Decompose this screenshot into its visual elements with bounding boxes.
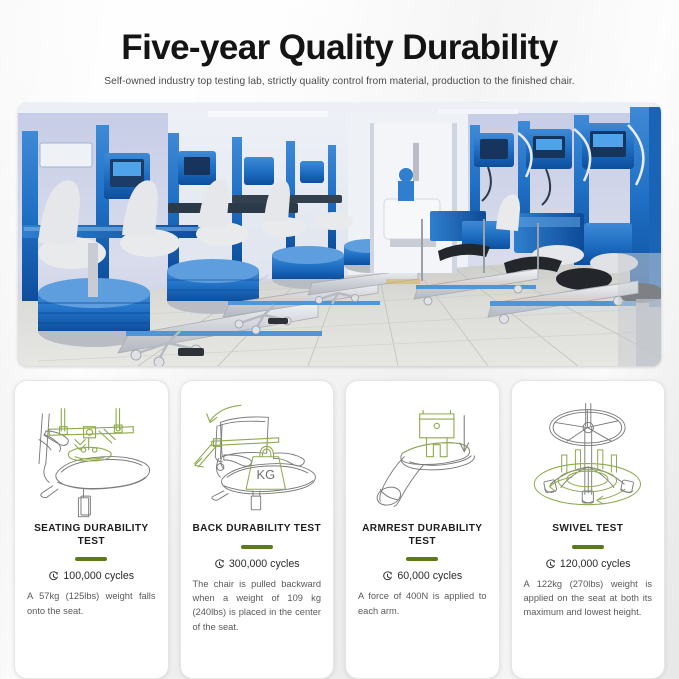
card-title: SEATING DURABILITY TEST [27,523,156,548]
card-cycles: 100,000 cycles [27,570,156,583]
armrest-press-test-icon [358,391,487,519]
card-description: A 122kg (270lbs) weight is applied on th… [524,577,653,620]
clock-icon [382,571,393,582]
card-divider [241,545,273,549]
card-seating-durability-test[interactable]: SEATING DURABILITY TEST 100,000 cycles A… [14,380,169,679]
card-description: The chair is pulled backward when a weig… [193,577,322,635]
product-feature-page: Five-year Quality Durability Self-owned … [0,0,679,679]
backrest-pull-test-icon: KG [193,391,322,519]
page-subtitle: Self-owned industry top testing lab, str… [0,76,679,87]
card-divider [75,557,107,561]
clock-icon [214,559,225,570]
lab-photo: Quality testing laboratory with rows of … [18,103,661,366]
card-cycles-text: 120,000 cycles [560,558,631,571]
card-divider [406,557,438,561]
card-back-durability-test[interactable]: KG BACK DURABILITY TEST 300,000 cycles T… [180,380,335,679]
lab-photo-graphic [18,103,661,366]
seat-drop-test-icon [27,391,156,519]
card-cycles: 60,000 cycles [358,570,487,583]
card-title: SWIVEL TEST [524,523,653,536]
card-cycles: 120,000 cycles [524,558,653,571]
header: Five-year Quality Durability Self-owned … [0,0,679,87]
swivel-base-test-icon [524,391,653,519]
armrest-press-test-illustration [358,391,487,519]
card-swivel-test[interactable]: SWIVEL TEST 120,000 cycles A 122kg (270l… [511,380,666,679]
seat-drop-test-illustration [27,391,156,519]
swivel-base-test-illustration [524,391,653,519]
card-cycles: 300,000 cycles [193,558,322,571]
durability-test-cards: SEATING DURABILITY TEST 100,000 cycles A… [14,380,665,679]
lab-photo-alt: Quality testing laboratory with rows of … [18,103,19,104]
card-armrest-durability-test[interactable]: ARMREST DURABILITY TEST 60,000 cycles A … [345,380,500,679]
card-description: A force of 400N is applied to each arm. [358,589,487,618]
card-cycles-text: 100,000 cycles [63,570,134,583]
card-divider [572,545,604,549]
card-cycles-text: 300,000 cycles [229,558,300,571]
weight-label: KG [256,467,275,482]
card-cycles-text: 60,000 cycles [397,570,462,583]
clock-icon [545,559,556,570]
page-title: Five-year Quality Durability [0,28,679,67]
card-title: BACK DURABILITY TEST [193,523,322,536]
card-description: A 57kg (125lbs) weight falls onto the se… [27,589,156,618]
card-title: ARMREST DURABILITY TEST [358,523,487,548]
clock-icon [48,571,59,582]
backrest-pull-test-illustration: KG [193,391,322,519]
